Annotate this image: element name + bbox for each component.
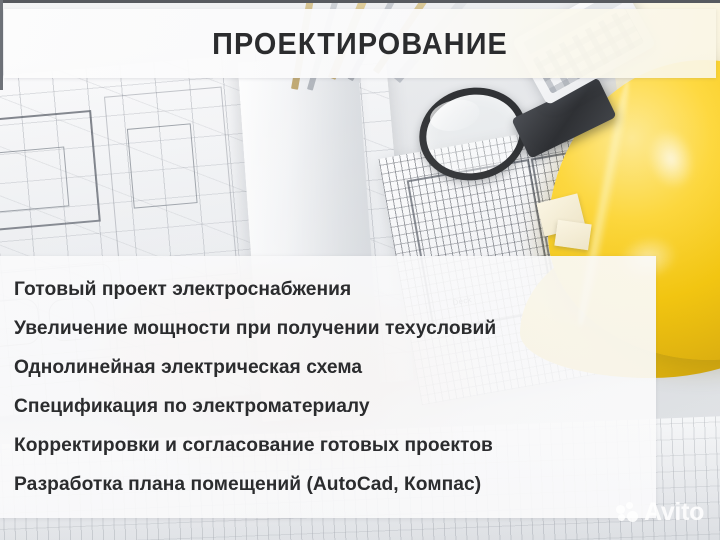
- avito-wordmark: Avito: [644, 500, 704, 525]
- list-item: Разработка плана помещений (AutoCad, Ком…: [14, 465, 646, 504]
- left-edge-strip: [0, 0, 3, 90]
- logo-dot: [627, 511, 638, 522]
- avito-dots-logo-icon: [616, 502, 640, 524]
- logo-dot: [616, 505, 625, 514]
- list-item: Увеличение мощности при получении техусл…: [14, 309, 646, 348]
- logo-dot: [626, 502, 633, 509]
- page-title: ПРОЕКТИРОВАНИЕ: [212, 26, 508, 62]
- title-banner: ПРОЕКТИРОВАНИЕ: [4, 9, 716, 78]
- blueprint-shape: [127, 123, 198, 208]
- paper-model: [554, 220, 591, 250]
- logo-dot: [618, 514, 625, 521]
- list-item: Однолинейная электрическая схема: [14, 348, 646, 387]
- poster-image: Spa Sp Deck Bed 3: [0, 0, 720, 540]
- list-item: Спецификация по электроматериалу: [14, 387, 646, 426]
- list-item: Готовый проект электроснабжения: [14, 270, 646, 309]
- avito-watermark: Avito: [616, 500, 704, 525]
- top-edge-strip: [0, 0, 720, 3]
- list-item: Корректировки и согласование готовых про…: [14, 426, 646, 465]
- blueprint-shape: [0, 146, 69, 212]
- services-list-panel: Готовый проект электроснабжения Увеличен…: [0, 256, 656, 518]
